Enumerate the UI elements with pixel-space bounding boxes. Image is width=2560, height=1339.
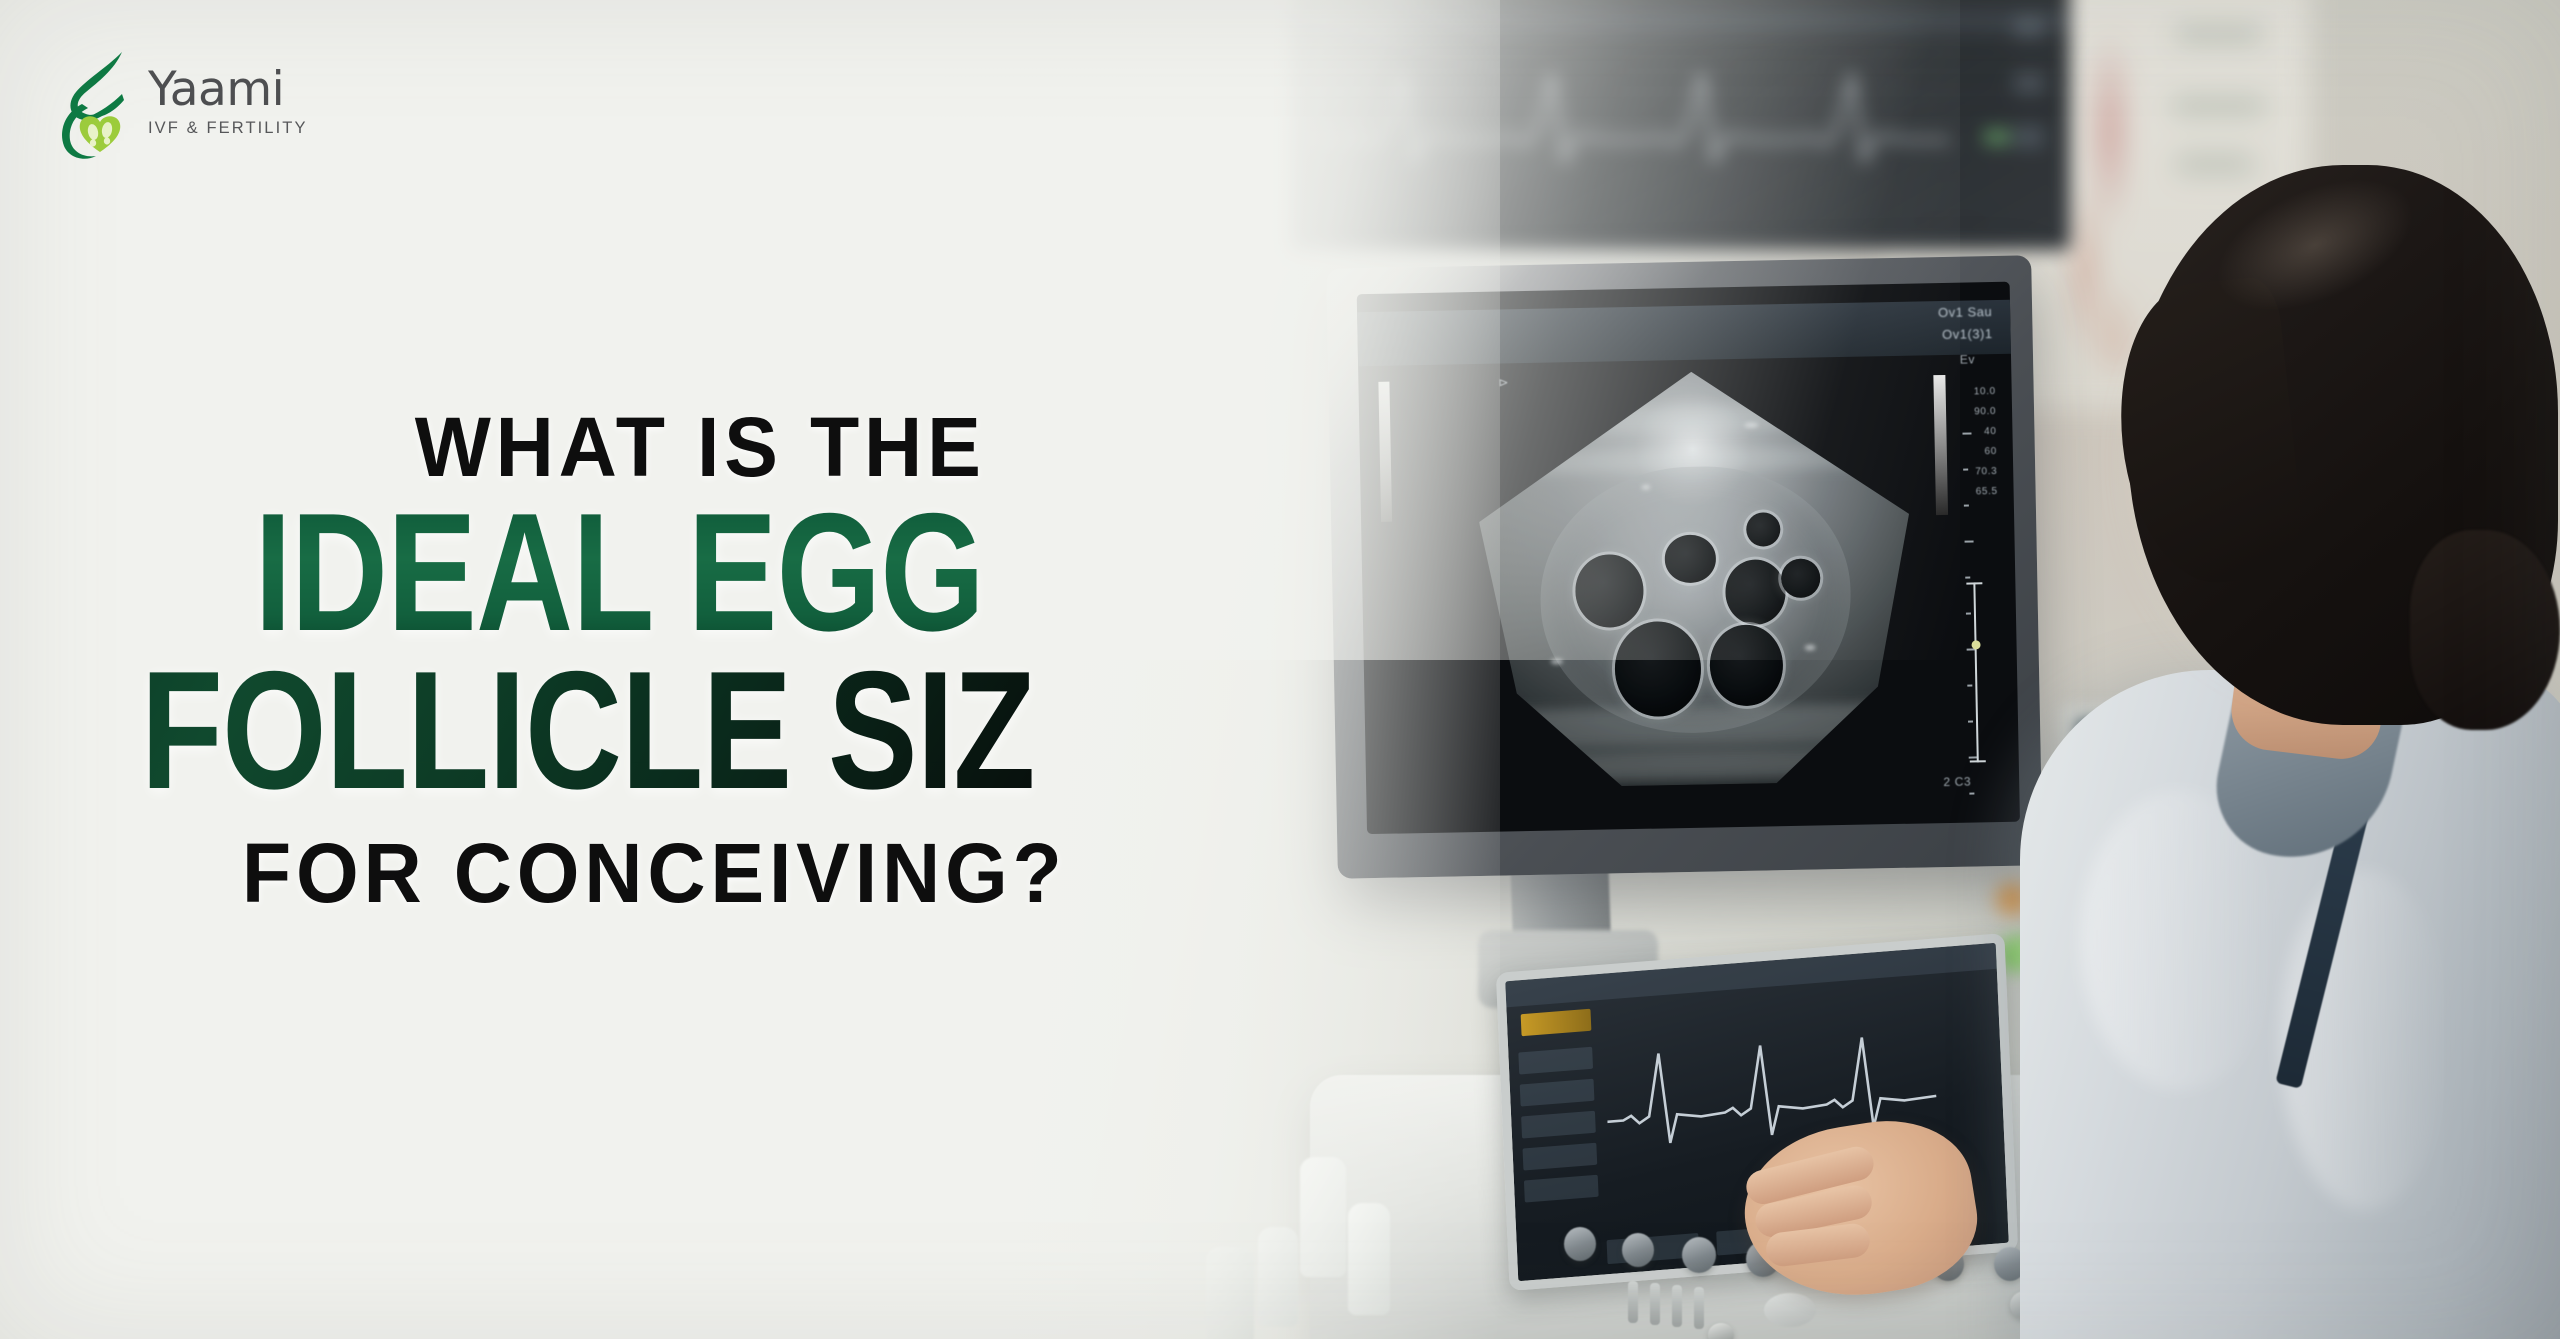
grayscale-ramp-left: [1378, 382, 1392, 522]
gel-bottle: [1300, 1157, 1346, 1277]
ultrasound-screen: Ov1 Sau Ov1(3)1 ⊳ Ev 10.0 90.0 40 60 70.…: [1357, 282, 2020, 834]
ovary-scan-image: [1476, 368, 1914, 806]
hair-bun: [2410, 530, 2560, 730]
doctor-figure: [1980, 110, 2560, 1339]
brand-logo[interactable]: Yaami IVF & FERTILITY: [52, 48, 352, 160]
yaami-swirl-heart-icon: [52, 48, 148, 160]
gel-bottle: [1348, 1203, 1390, 1315]
headline-line-4: FOR CONCEIVING?: [0, 831, 1248, 915]
probe-orientation-icon: ⊳: [1498, 375, 1509, 389]
headline-line-1: WHAT IS THE: [0, 405, 1248, 489]
brand-tagline: IVF & FERTILITY: [148, 119, 308, 138]
probe-label: Ev: [1960, 352, 1975, 366]
ultrasound-monitor: Ov1 Sau Ov1(3)1 ⊳ Ev 10.0 90.0 40 60 70.…: [1326, 255, 2043, 878]
ecg-trace-icon: [1310, 40, 1950, 190]
headline-block: WHAT IS THE IDEAL EGG FOLLICLE SIZE FOR …: [0, 405, 1300, 915]
active-preset-highlight[interactable]: [1521, 1009, 1592, 1036]
ecg-waveform-monitor: [1290, 0, 2070, 250]
follicle: [1781, 559, 1820, 598]
gel-bottle: [1258, 1227, 1298, 1327]
ultrasound-status-bar: Ov1 Sau Ov1(3)1: [1357, 300, 2011, 367]
probe-holder: [1206, 1247, 1254, 1339]
headline-line-3: FOLLICLE SIZE: [0, 657, 1040, 805]
grayscale-ramp-right: [1933, 375, 1948, 515]
headline-line-2: IDEAL EGG: [0, 499, 1040, 647]
logo-wordmark: Yaami IVF & FERTILITY: [148, 66, 308, 138]
poster-canvas: Ov1 Sau Ov1(3)1 ⊳ Ev 10.0 90.0 40 60 70.…: [0, 0, 2560, 1339]
brand-name: Yaami: [148, 66, 308, 113]
